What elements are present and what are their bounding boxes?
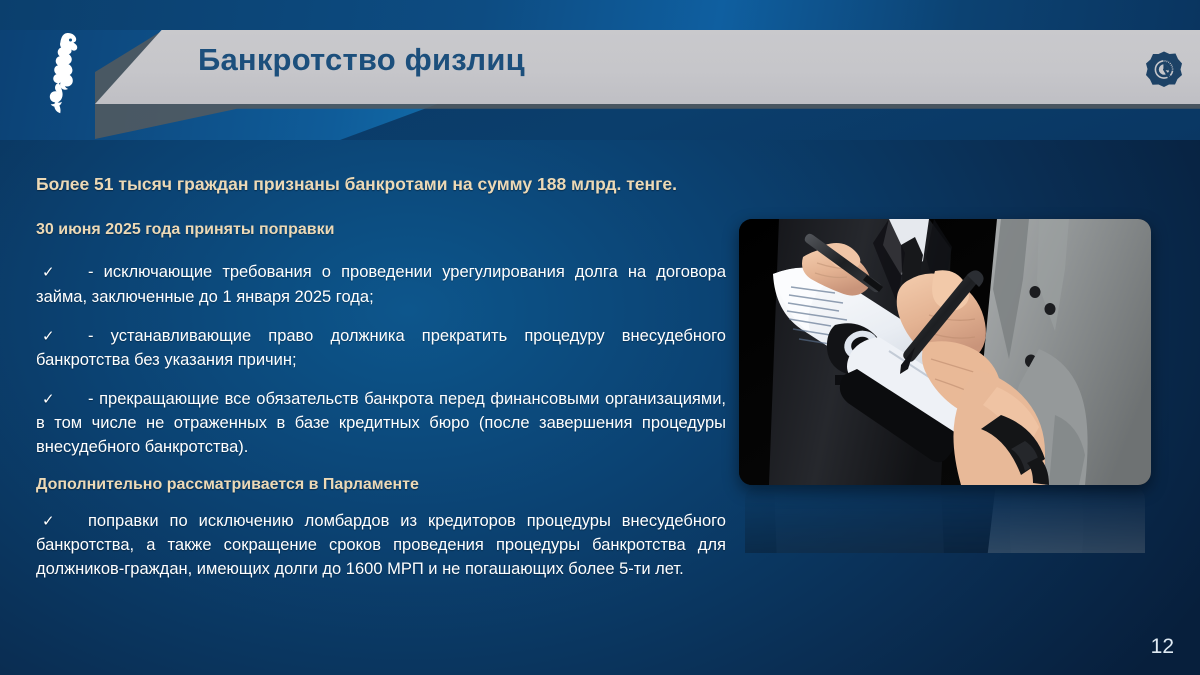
sun-rays-emblem (1145, 50, 1183, 88)
bullet-item: ✓- исключающие требования о проведении у… (36, 260, 726, 308)
check-icon: ✓ (36, 389, 88, 411)
slide: Банкротство физлиц Более 51 тысяч гражда… (0, 0, 1200, 675)
bullet-text: - исключающие требования о проведении ур… (36, 263, 726, 305)
subheading-amendments: 30 июня 2025 года приняты поправки (36, 219, 726, 241)
document-signing-photo (739, 219, 1151, 485)
subheading-parliament: Дополнительно рассматривается в Парламен… (36, 474, 726, 496)
bullet-item: ✓поправки по исключению ломбардов из кре… (36, 509, 726, 581)
slide-body: Более 51 тысяч граждан признаны банкрота… (36, 172, 726, 596)
slide-header: Банкротство физлиц (0, 0, 1200, 140)
photo-frame (739, 219, 1151, 485)
page-title: Банкротство физлиц (198, 42, 525, 78)
photo-reflection (745, 487, 1145, 553)
page-number: 12 (1151, 635, 1174, 659)
snow-leopard-emblem (32, 28, 94, 116)
check-icon: ✓ (36, 326, 88, 348)
bullet-item: ✓- прекращающие все обязательств банкрот… (36, 387, 726, 459)
lead-statement: Более 51 тысяч граждан признаны банкрота… (36, 172, 726, 197)
bullet-text: поправки по исключению ломбардов из кред… (36, 512, 726, 578)
bullet-text: - прекращающие все обязательств банкрота… (36, 390, 726, 456)
check-icon: ✓ (36, 511, 88, 533)
check-icon: ✓ (36, 262, 88, 284)
illustration-photo (739, 219, 1151, 485)
bullet-item: ✓- устанавливающие право должника прекра… (36, 324, 726, 372)
header-top-band (0, 0, 1200, 30)
bullet-text: - устанавливающие право должника прекрат… (36, 327, 726, 369)
